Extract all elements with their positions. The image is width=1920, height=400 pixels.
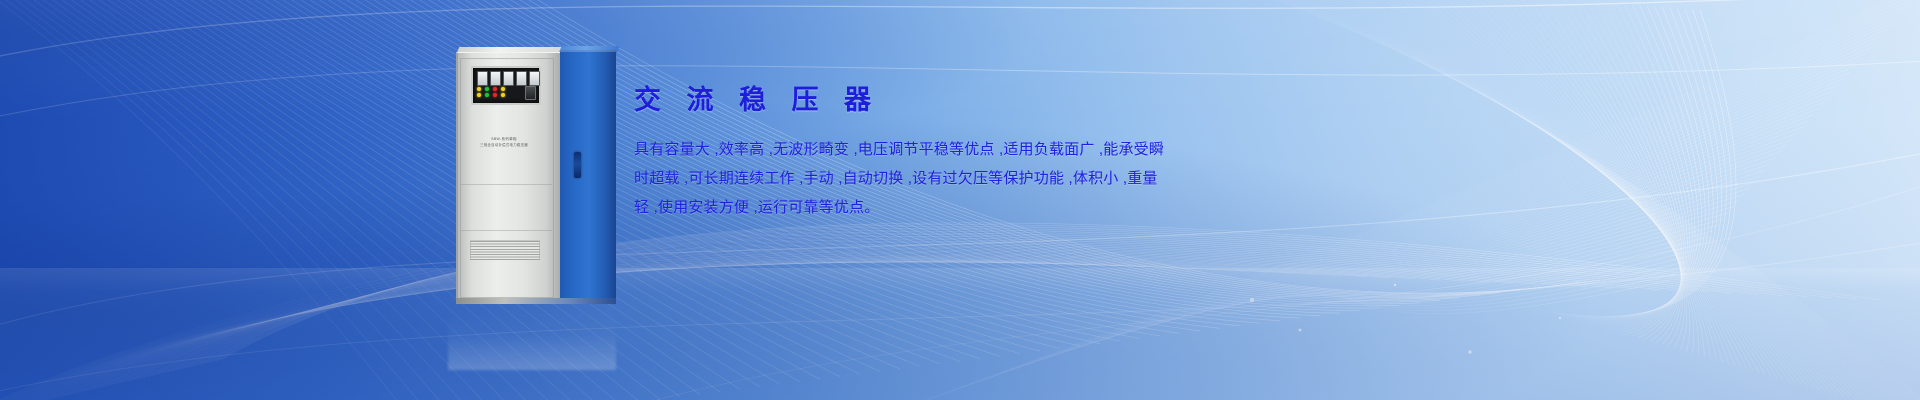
lamp-row xyxy=(477,87,505,91)
indicator-lamp-yellow xyxy=(501,87,505,91)
description-line: 具有容量大 ,效率高 ,无波形畸变 ,电压调节平稳等优点 ,适用负载面广 ,能承… xyxy=(634,135,1154,164)
lamp-row xyxy=(477,93,505,97)
ventilation-louvers xyxy=(470,240,540,260)
promo-banner: SBW-系列单相 三相全自动补偿式电力稳压器 交 流 稳 压 器 具有容量大 ,… xyxy=(0,0,1920,400)
door-seam xyxy=(460,184,552,185)
meter-group xyxy=(477,71,540,86)
indicator-lamp-green xyxy=(485,93,489,97)
indicator-lamp-yellow xyxy=(477,93,481,97)
control-panel xyxy=(471,66,541,105)
description-line: 时超载 ,可长期连续工作 ,手动 ,自动切换 ,设有过欠压等保护功能 ,体积小 … xyxy=(634,164,1154,193)
indicator-lamp-red xyxy=(493,87,497,91)
door-seam xyxy=(460,230,552,231)
indicator-lamp-green xyxy=(485,87,489,91)
model-nameplate: SBW-系列单相 三相全自动补偿式电力稳压器 xyxy=(468,136,540,149)
analog-meter xyxy=(516,71,527,86)
indicator-lamp-yellow xyxy=(477,87,481,91)
indicator-lamp-yellow xyxy=(501,93,505,97)
banner-description: 具有容量大 ,效率高 ,无波形畸变 ,电压调节平稳等优点 ,适用负载面广 ,能承… xyxy=(634,135,1154,222)
indicator-lamp-group xyxy=(477,87,505,97)
analog-meter xyxy=(490,71,501,86)
floor-reflection-band xyxy=(0,268,1920,400)
cabinet-base xyxy=(456,298,616,304)
cabinet-handle xyxy=(574,152,581,178)
analog-meter xyxy=(529,71,540,86)
rotary-switch xyxy=(525,86,536,100)
product-floor-reflection xyxy=(448,306,616,370)
banner-text-block: 交 流 稳 压 器 具有容量大 ,效率高 ,无波形畸变 ,电压调节平稳等优点 ,… xyxy=(634,80,1174,222)
nameplate-description: 三相全自动补偿式电力稳压器 xyxy=(468,142,540,149)
analog-meter xyxy=(477,71,488,86)
indicator-lamp-red xyxy=(493,93,497,97)
cabinet-side-panel xyxy=(556,50,616,300)
banner-headline: 交 流 稳 压 器 xyxy=(634,80,1174,120)
product-image: SBW-系列单相 三相全自动补偿式电力稳压器 xyxy=(448,44,616,306)
description-line: 轻 ,使用安装方便 ,运行可靠等优点。 xyxy=(634,193,1154,222)
analog-meter xyxy=(503,71,514,86)
